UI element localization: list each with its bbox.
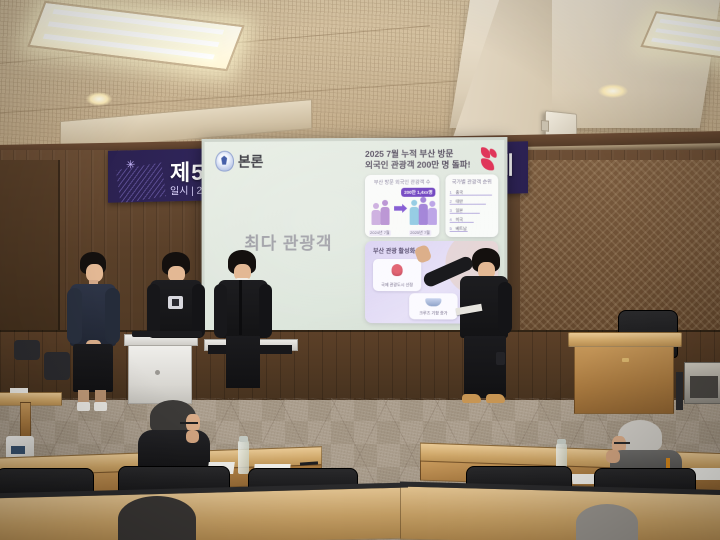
- banner-star-icon: ✳: [126, 158, 135, 171]
- left-arm: [67, 288, 82, 344]
- jacket-opening: [239, 280, 242, 335]
- bag: [14, 340, 40, 360]
- cargo-pants: [464, 336, 506, 398]
- person-figure: [409, 200, 418, 225]
- water-bottle-cap: [557, 439, 566, 444]
- rank-row: 5 베트남: [450, 225, 495, 232]
- shorts: [73, 344, 113, 392]
- side-desk: [574, 340, 674, 414]
- trousers: [226, 336, 260, 388]
- podium-left-knob: [155, 370, 160, 375]
- shoe: [462, 394, 481, 403]
- equipment-stand: [676, 372, 683, 410]
- banner-grid-decoration: [116, 163, 166, 203]
- factor-item: 국제 관광도시 선정: [373, 259, 421, 291]
- stats-right-label: 2025년 7월: [409, 230, 431, 236]
- ceiling-downlight: [598, 84, 628, 98]
- stats-left-label: 2024년 7월: [369, 230, 391, 236]
- busan-b-logo-icon: [479, 146, 499, 172]
- infographic-headline: 2025 7월 누적 부산 방문 외국인 관광객 200만 명 돌파!: [365, 148, 474, 171]
- presenter-pointing: [452, 248, 518, 413]
- paper-on-table: [10, 388, 28, 393]
- podium-left-rail: [132, 331, 202, 337]
- lapel-pin: [666, 458, 670, 468]
- av-equipment-screen: [690, 376, 718, 398]
- podium-left: [128, 340, 192, 404]
- glasses-arm: [180, 422, 198, 424]
- right-arm: [498, 282, 512, 334]
- stats-badge: 200만 1,4xx명: [401, 188, 436, 197]
- person-figure: [380, 200, 389, 225]
- sock: [94, 402, 107, 411]
- factor-item-label: 크루즈 기항 증가: [409, 310, 457, 316]
- person-figure: [418, 197, 427, 225]
- rank-row: 4 미국: [450, 216, 495, 223]
- shoe: [486, 394, 505, 403]
- stats-card-caption: 부산 방문 외국인 관광객 수: [365, 179, 439, 186]
- right-arm: [192, 284, 205, 338]
- audience-head-foreground: [118, 496, 196, 540]
- cruise-icon: [425, 298, 441, 306]
- rank-row: 3 일본: [450, 207, 495, 214]
- right-arm: [105, 288, 120, 344]
- hand-at-chin: [186, 430, 199, 443]
- presentation-room-photo: ✳ 제5회 산 일시 | 20 제 본론 최다 관광객 2025 7월 누적 부…: [0, 0, 720, 540]
- sock: [77, 402, 90, 411]
- audience-head-foreground: [576, 504, 638, 540]
- chair-back-left: [44, 352, 70, 380]
- glasses: [614, 442, 630, 444]
- factor-item-label: 국제 관광도시 선정: [373, 282, 421, 288]
- side-desk-top: [568, 332, 682, 347]
- plastic-bag-label: [11, 446, 25, 454]
- stats-card: 부산 방문 외국인 관광객 수 200만 1,4xx명: [365, 175, 439, 237]
- left-side-table: [0, 392, 62, 406]
- hand-at-chin: [606, 450, 620, 463]
- award-icon: [392, 264, 403, 276]
- water-bottle-cap: [239, 436, 248, 442]
- person-figure: [427, 201, 436, 225]
- cargo-pocket: [496, 352, 505, 365]
- presenter-standing-left: [62, 252, 124, 412]
- rank-card-caption: 국가별 관광객 순위: [445, 178, 498, 185]
- presenter-podium-right: [214, 250, 272, 390]
- audience-front-left: [130, 400, 220, 472]
- right-arm: [259, 284, 272, 338]
- left-arm: [147, 284, 160, 338]
- infographic-headline-line1: 2025 7월 누적 부산 방문: [365, 148, 474, 160]
- slide-section-label: 본론: [238, 152, 263, 172]
- shirt-graphic-inner: [172, 299, 179, 306]
- ceiling-downlight: [86, 92, 112, 106]
- person-figure: [371, 203, 380, 225]
- factor-item: 크루즈 기항 증가: [409, 293, 457, 319]
- rank-card: 국가별 관광객 순위 1 중국 2 대만 3 일본 4: [445, 174, 498, 237]
- water-bottle: [238, 440, 249, 474]
- infographic-headline-line2: 외국인 관광객 200만 명 돌파!: [365, 159, 474, 171]
- rank-row: 1 중국: [450, 189, 495, 196]
- desk-handle: [622, 358, 629, 362]
- left-arm: [214, 284, 227, 338]
- left-side-table-leg: [20, 402, 31, 438]
- growth-arrow-icon: [394, 204, 407, 213]
- university-emblem-icon: [215, 151, 234, 172]
- rank-row: 2 대만: [450, 198, 495, 205]
